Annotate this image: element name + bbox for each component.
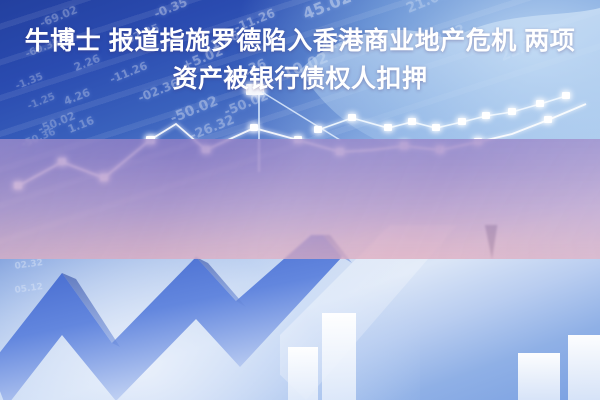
caption-band (0, 139, 600, 259)
caption-line-1: 牛博士 报道指施罗德陷入香港商业地产危机 两项 (25, 25, 575, 57)
caption-text-block: 牛博士 报道指施罗德陷入香港商业地产危机 两项 资产被银行债权人扣押 (0, 0, 600, 120)
caption-line-2: 资产被银行债权人扣押 (172, 63, 427, 95)
news-banner: -69.02-0.35-11.2645.0221.02-69.35-02.35-… (0, 0, 600, 400)
caption-band-sheen (0, 139, 600, 259)
